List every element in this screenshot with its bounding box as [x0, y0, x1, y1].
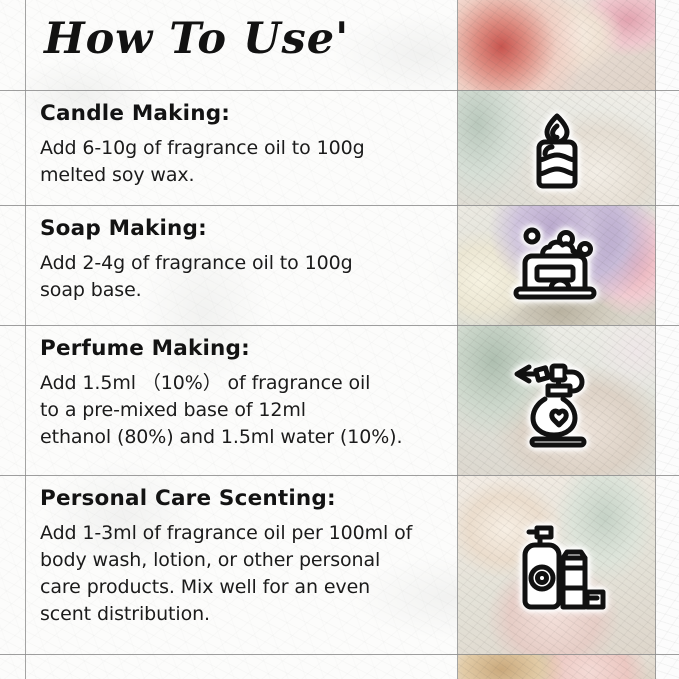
section-body: Add 1-3ml of fragrance oil per 100ml of …	[40, 520, 450, 628]
body-line: Add 2-4g of fragrance oil to 100g	[40, 250, 450, 277]
body-line: care products. Mix well for an even	[40, 574, 450, 601]
divider-after-soap	[0, 325, 679, 326]
section-body: Add 1.5ml （10%） of fragrance oil to a pr…	[40, 370, 450, 451]
section-body: Add 6-10g of fragrance oil to 100g melte…	[40, 135, 450, 189]
photo-column-rule	[457, 0, 458, 679]
roses-photo	[458, 0, 656, 90]
floral-photo-column	[458, 0, 656, 679]
body-line: Add 1-3ml of fragrance oil per 100ml of	[40, 520, 450, 547]
right-edge-texture-strip	[656, 0, 679, 679]
section-body: Add 2-4g of fragrance oil to 100g soap b…	[40, 250, 450, 304]
body-line: soap base.	[40, 277, 450, 304]
body-line: Add 1.5ml （10%） of fragrance oil	[40, 370, 450, 397]
section-candle-making: Candle Making: Add 6-10g of fragrance oi…	[40, 101, 450, 189]
section-heading: Personal Care Scenting:	[40, 486, 450, 511]
section-soap-making: Soap Making: Add 2-4g of fragrance oil t…	[40, 216, 450, 304]
divider-footer	[0, 654, 679, 655]
body-line: Add 6-10g of fragrance oil to 100g	[40, 135, 450, 162]
body-line: melted soy wax.	[40, 162, 450, 189]
body-line: scent distribution.	[40, 601, 450, 628]
body-line: body wash, lotion, or other personal	[40, 547, 450, 574]
divider-after-candle	[0, 205, 679, 206]
how-to-use-infographic: How To Use' Candle Making: Add 6-10g of …	[0, 0, 679, 679]
section-heading: Candle Making:	[40, 101, 450, 126]
section-heading: Perfume Making:	[40, 336, 450, 361]
divider-after-perfume	[0, 475, 679, 476]
body-line: to a pre-mixed base of 12ml	[40, 397, 450, 424]
divider-after-title	[0, 90, 679, 91]
section-perfume-making: Perfume Making: Add 1.5ml （10%） of fragr…	[40, 336, 450, 451]
page-title: How To Use'	[44, 14, 349, 64]
green-leaf-photo	[458, 90, 656, 205]
bottom-floral-photo	[458, 654, 656, 679]
left-margin-rule	[25, 0, 26, 679]
section-personal-care-scenting: Personal Care Scenting: Add 1-3ml of fra…	[40, 486, 450, 628]
right-edge-rule	[655, 0, 656, 679]
body-line: ethanol (80%) and 1.5ml water (10%).	[40, 424, 450, 451]
lilac-blossom-photo	[458, 205, 656, 325]
section-heading: Soap Making:	[40, 216, 450, 241]
sage-foliage-photo	[458, 325, 656, 475]
cream-floral-photo	[458, 475, 656, 654]
